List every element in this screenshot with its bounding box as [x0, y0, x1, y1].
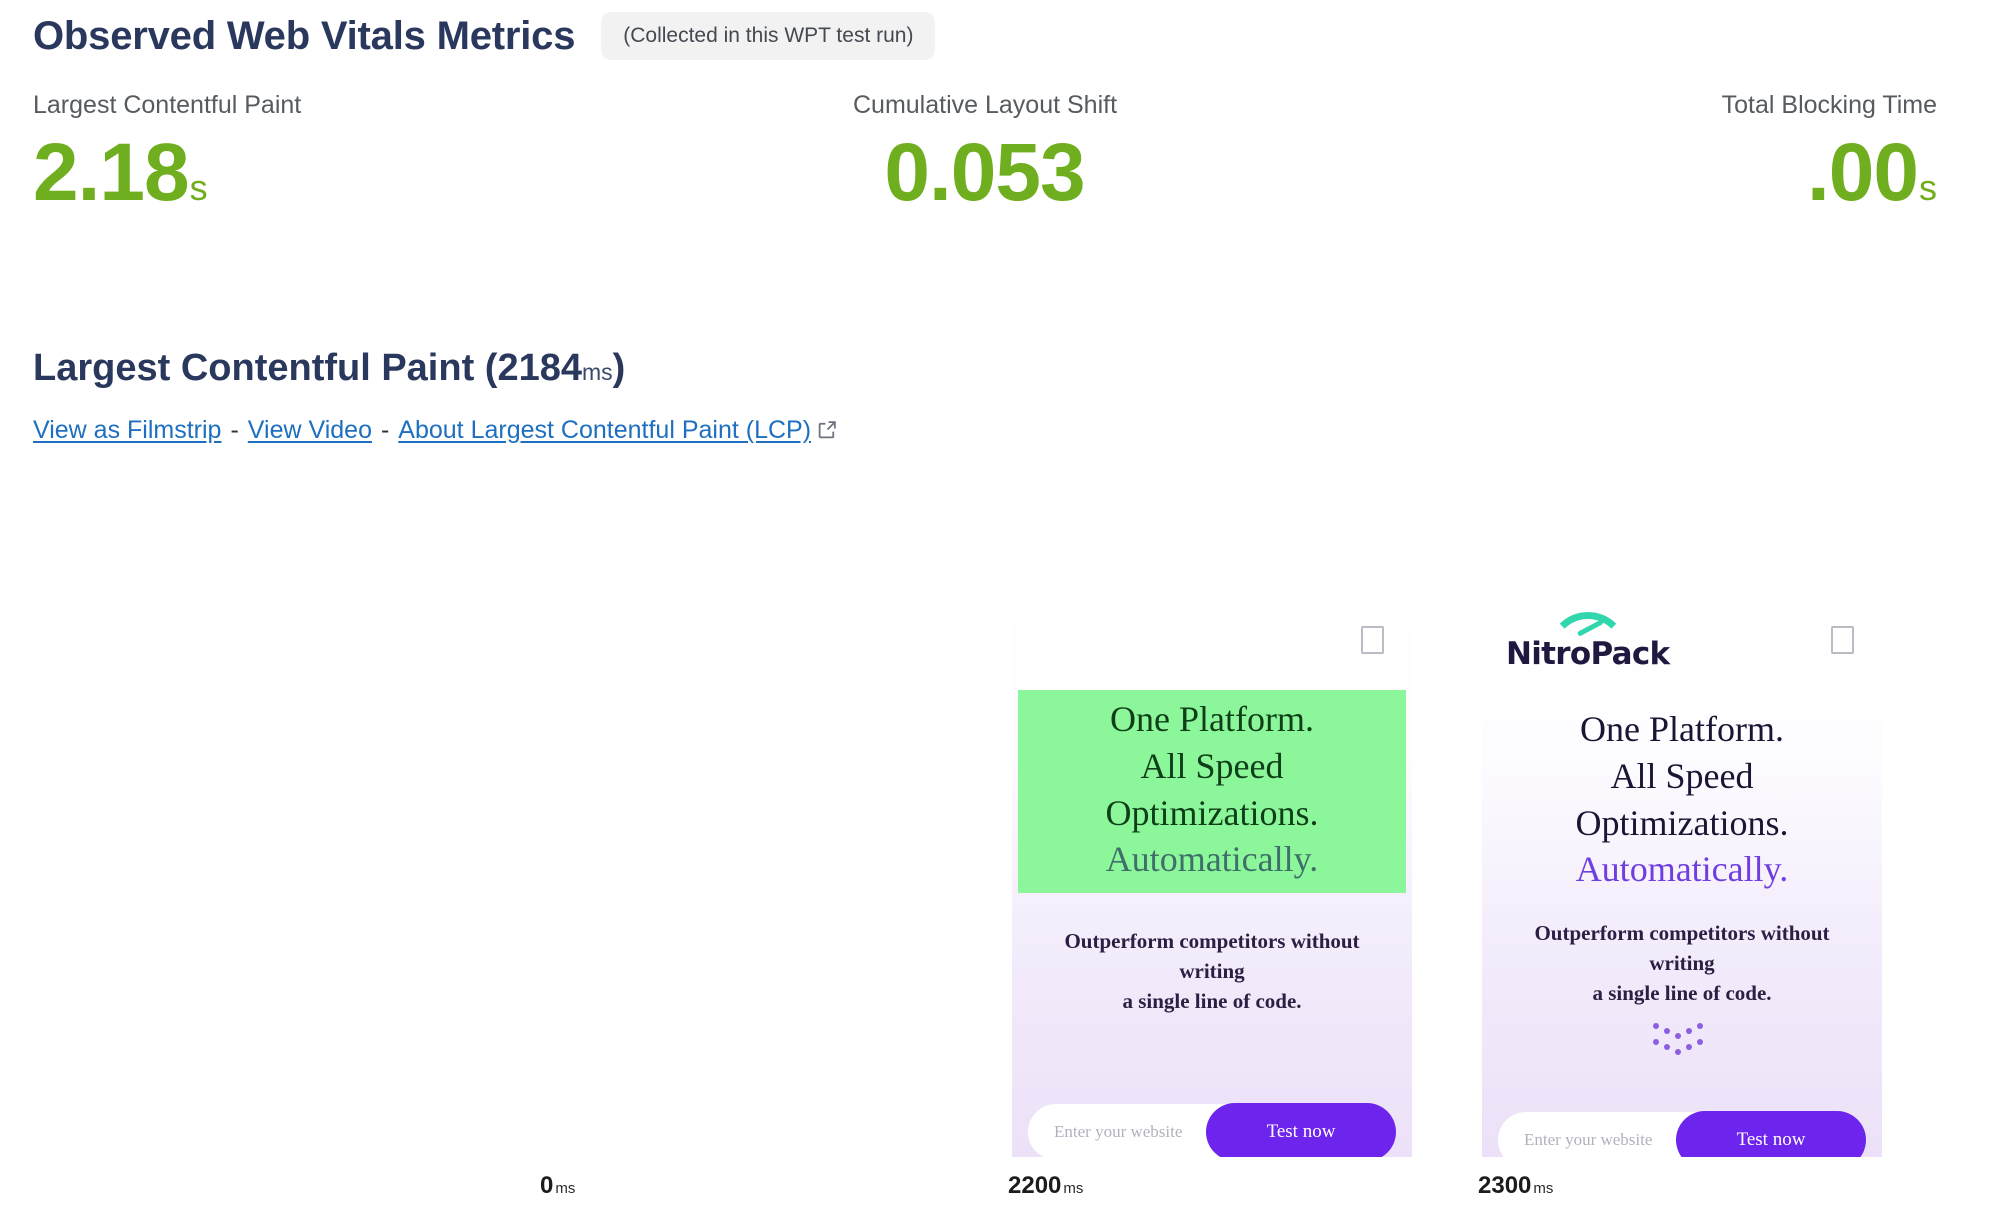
lcp-section: Largest Contentful Paint (2184ms) View a… [0, 348, 1999, 445]
filmstrip-frame-blank[interactable] [607, 600, 1007, 1157]
filmstrip-time-axis: 0ms 2200ms 2300ms [0, 1172, 1999, 1216]
metric-label: Cumulative Layout Shift [853, 90, 1117, 121]
time-unit: ms [1063, 1180, 1083, 1197]
time-value: 2200 [1008, 1172, 1061, 1199]
filmstrip-frame-full[interactable]: NitroPack One Platform. All Speed Optimi… [1482, 600, 1882, 1157]
time-unit: ms [555, 1180, 575, 1197]
hero-emphasis: Automatically. [1500, 846, 1864, 893]
chevron-row-2 [1647, 1039, 1717, 1061]
lcp-section-heading: Largest Contentful Paint (2184ms) [33, 348, 1999, 390]
metric-largest-contentful-paint: Largest Contentful Paint 2.18s [0, 90, 668, 260]
hero-line-2: All Speed [1030, 743, 1394, 790]
nitropack-logo-text: NitroPack [1506, 636, 1669, 672]
time-label-0: 0ms [540, 1172, 575, 1200]
test-now-button[interactable]: Test now [1676, 1111, 1866, 1157]
hero-emphasis: Automatically. [1030, 836, 1394, 883]
view-video-link[interactable]: View Video [248, 416, 372, 445]
page-mock: One Platform. All Speed Optimizations. A… [1012, 600, 1412, 1157]
metric-label: Total Blocking Time [1722, 90, 1937, 121]
lcp-heading-text: Largest Contentful Paint (2184 [33, 347, 582, 389]
lcp-heading-unit: ms [582, 359, 613, 385]
external-link-icon [817, 418, 838, 439]
observed-web-vitals-header: Observed Web Vitals Metrics (Collected i… [0, 0, 1999, 72]
test-now-button[interactable]: Test now [1206, 1103, 1396, 1157]
subcopy-line-2: a single line of code. [1504, 979, 1860, 1009]
metric-cumulative-layout-shift: Cumulative Layout Shift 0.053 [668, 90, 1303, 260]
subcopy-line-2: a single line of code. [1034, 987, 1390, 1017]
lcp-filmstrip: One Platform. All Speed Optimizations. A… [0, 600, 1999, 1160]
web-vitals-metrics-row: Largest Contentful Paint 2.18s Cumulativ… [0, 90, 1999, 260]
hero-block: One Platform. All Speed Optimizations. A… [1482, 706, 1882, 893]
hero-line-2: All Speed [1500, 753, 1864, 800]
subcopy-line-1: Outperform competitors without writing [1504, 919, 1860, 979]
subcopy-line-1: Outperform competitors without writing [1034, 927, 1390, 987]
metric-label: Largest Contentful Paint [33, 90, 301, 121]
filmstrip-frame-lcp[interactable]: One Platform. All Speed Optimizations. A… [1012, 600, 1412, 1157]
page-mock: NitroPack One Platform. All Speed Optimi… [1482, 600, 1882, 1157]
collection-source-badge: (Collected in this WPT test run) [601, 12, 935, 59]
time-value: 2300 [1478, 1172, 1531, 1199]
metric-number: 2.18 [33, 127, 189, 218]
metric-unit: s [190, 167, 208, 208]
menu-icon[interactable] [1361, 626, 1384, 654]
page-title: Observed Web Vitals Metrics [33, 16, 575, 56]
time-label-2300: 2300ms [1478, 1172, 1553, 1200]
hero-line-1: One Platform. [1030, 696, 1394, 743]
metric-value: 2.18s [33, 127, 208, 219]
metric-value: 0.053 [884, 127, 1085, 219]
time-unit: ms [1533, 1180, 1553, 1197]
nitropack-logo: NitroPack [1506, 610, 1696, 672]
view-as-filmstrip-link[interactable]: View as Filmstrip [33, 416, 221, 445]
scroll-down-chevron-icon [1647, 1023, 1717, 1073]
hero-subcopy: Outperform competitors without writing a… [1012, 927, 1412, 1016]
about-lcp-link[interactable]: About Largest Contentful Paint (LCP) [398, 416, 811, 445]
time-label-2200: 2200ms [1008, 1172, 1083, 1200]
hero-line-1: One Platform. [1500, 706, 1864, 753]
metric-number: 0.053 [884, 127, 1084, 218]
metric-total-blocking-time: Total Blocking Time .00s [1302, 90, 1999, 260]
hero-subcopy: Outperform competitors without writing a… [1482, 919, 1882, 1008]
metric-value: .00s [1807, 127, 1937, 219]
menu-icon[interactable] [1831, 626, 1854, 654]
link-separator: - [230, 416, 238, 445]
metric-number: .00 [1807, 127, 1918, 218]
cta-row: Enter your website Test now [1498, 1109, 1866, 1157]
time-value: 0 [540, 1172, 553, 1199]
hero-line-3: Optimizations. [1500, 800, 1864, 847]
mock-topbar [1012, 600, 1412, 676]
mock-topbar: NitroPack [1482, 600, 1882, 676]
link-separator: - [381, 416, 389, 445]
hero-line-3: Optimizations. [1030, 790, 1394, 837]
lcp-heading-close: ) [613, 347, 626, 389]
lcp-highlighted-element: One Platform. All Speed Optimizations. A… [1018, 690, 1406, 893]
lcp-links-row: View as Filmstrip - View Video - About L… [33, 416, 1999, 445]
cta-row: Enter your website Test now [1028, 1101, 1396, 1157]
metric-unit: s [1919, 167, 1937, 208]
